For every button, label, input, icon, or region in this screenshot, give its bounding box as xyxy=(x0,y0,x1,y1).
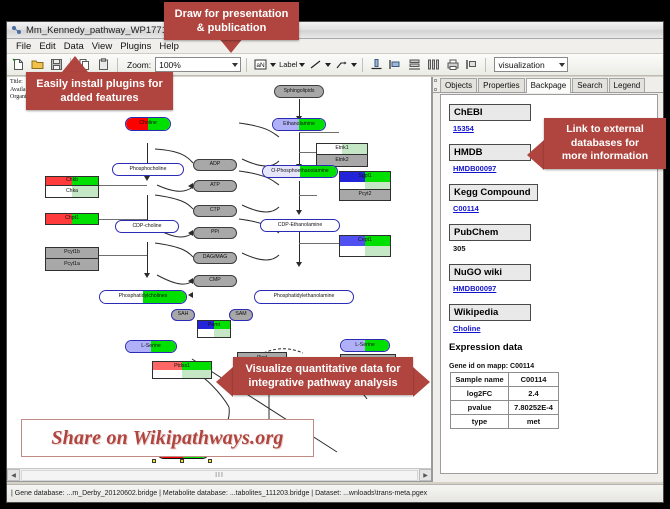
callout-line-2: databases for xyxy=(552,137,658,151)
chevron-down-icon[interactable] xyxy=(270,63,276,67)
node-label: Sgpl1 xyxy=(340,174,390,179)
chevron-down-icon[interactable] xyxy=(351,63,357,67)
node-o-phosphoethanolamine[interactable]: O-Phosphoethanolamine xyxy=(262,165,338,178)
backpage-header-hmdb: HMDB xyxy=(449,144,531,161)
table-row: type met xyxy=(451,415,559,429)
node-label: O-Phosphoethanolamine xyxy=(271,169,328,174)
paste-icon[interactable] xyxy=(95,56,112,73)
node-l-serine-right[interactable]: L-Serine xyxy=(340,339,390,352)
menu-help[interactable]: Help xyxy=(155,41,183,52)
svg-text:aN: aN xyxy=(256,62,265,69)
node-label: ADP xyxy=(210,162,221,167)
share-banner-text: Share on Wikipathways.org xyxy=(51,427,283,450)
node-ethanolamine-top[interactable]: Ethanolamine xyxy=(272,118,326,131)
toolbar-separator-5 xyxy=(485,58,486,72)
callout-line-3: more information xyxy=(552,150,658,164)
table-cell-value: 7.80252E-4 xyxy=(509,401,559,415)
menu-data[interactable]: Data xyxy=(60,41,88,52)
callout-visualize-pointer-left xyxy=(216,367,233,397)
node-label: L-Serine xyxy=(355,343,375,348)
node-label: CMP xyxy=(209,278,221,283)
node-label: Pemt xyxy=(198,323,230,328)
node-chka[interactable]: Chka xyxy=(45,186,99,198)
visualization-value: visualization xyxy=(498,60,544,70)
callout-plugins: Easily install plugins for added feature… xyxy=(26,72,173,110)
zoom-label: Zoom: xyxy=(127,60,151,70)
share-banner: Share on Wikipathways.org xyxy=(21,419,314,457)
arrowhead-icon xyxy=(188,278,193,284)
node-label: L-Serine xyxy=(141,344,161,349)
node-etnk1[interactable]: Etnk1 xyxy=(316,143,368,155)
scroll-track[interactable]: III xyxy=(21,470,418,481)
canvas-horizontal-scrollbar[interactable]: ◀ III ▶ xyxy=(7,468,432,481)
node-label: ATP xyxy=(210,183,220,188)
table-row: log2FC 2.4 xyxy=(451,387,559,401)
scroll-left-arrow-icon[interactable]: ◀ xyxy=(7,469,20,481)
toolbar-separator-4 xyxy=(362,58,363,72)
backpage-value-pubchem: 305 xyxy=(453,244,657,253)
node-pcyt2[interactable]: Pcyt2 xyxy=(339,189,391,201)
line-icon[interactable] xyxy=(307,56,324,73)
table-row: Sample name C00114 xyxy=(451,373,559,387)
expression-data-table: Sample name C00114 log2FC 2.4 pvalue 7.8… xyxy=(450,372,559,429)
backpage-header-wikipedia: Wikipedia xyxy=(449,304,531,321)
callout-line-2: integrative pathway analysis xyxy=(241,376,405,390)
scroll-right-arrow-icon[interactable]: ▶ xyxy=(419,469,432,481)
node-label: PPi xyxy=(211,230,219,235)
node-label: Choline xyxy=(139,121,157,126)
menu-edit[interactable]: Edit xyxy=(35,41,59,52)
node-label: CDP-choline xyxy=(132,224,161,229)
node-choline[interactable]: Choline xyxy=(125,117,171,131)
toolbar-separator-3 xyxy=(246,58,247,72)
line-tool[interactable] xyxy=(307,56,331,73)
node-label: Chkb xyxy=(66,178,78,183)
node-pemt[interactable]: Pemt xyxy=(197,320,231,338)
callout-line-1: Visualize quantitative data for xyxy=(241,362,405,376)
menu-file[interactable]: File xyxy=(12,41,35,52)
table-row: pvalue 7.80252E-4 xyxy=(451,401,559,415)
node-sam[interactable]: SAM xyxy=(229,309,253,321)
node-sah[interactable]: SAH xyxy=(171,309,195,321)
node-ptdss1[interactable]: Ptdss1 xyxy=(152,361,212,379)
node-label: Ethanolamine xyxy=(283,122,315,127)
label-button[interactable]: Label xyxy=(278,60,298,69)
open-folder-icon[interactable] xyxy=(29,56,46,73)
node-label: CTP xyxy=(210,208,220,213)
node-chpt1[interactable]: Chpt1 xyxy=(45,213,99,225)
stack-vertical-icon[interactable] xyxy=(406,56,423,73)
screenshot-root: Mm_Kennedy_pathway_WP1771_45176.gpml Fil… xyxy=(0,0,670,509)
backpage-link-kegg[interactable]: C00114 xyxy=(453,204,657,213)
callout-plugins-pointer xyxy=(62,56,88,72)
tab-search[interactable]: Search xyxy=(572,78,607,92)
node-atp[interactable]: ATP xyxy=(193,180,237,192)
align-bottom-icon[interactable] xyxy=(368,56,385,73)
callout-line-1: Easily install plugins for xyxy=(34,77,165,91)
zoom-combo[interactable]: 100% xyxy=(155,57,241,72)
datanode-tool[interactable]: aN xyxy=(252,56,276,73)
node-label: DAG/MAG xyxy=(203,255,228,260)
callout-link-db: Link to external databases for more info… xyxy=(544,118,666,169)
datanode-icon[interactable]: aN xyxy=(252,56,269,73)
status-bar: | Gene database: ...m_Derby_20120602.bri… xyxy=(7,484,663,502)
node-label: Chpt1 xyxy=(65,216,79,221)
node-label: Phosphocholine xyxy=(130,167,167,172)
callout-line-2: added features xyxy=(34,91,165,105)
node-label: Etnk1 xyxy=(335,146,348,151)
table-cell-value: 2.4 xyxy=(509,387,559,401)
table-cell-value: met xyxy=(509,415,559,429)
table-cell-key: pvalue xyxy=(451,401,509,415)
node-label: SAH xyxy=(178,312,189,317)
arrowhead-icon xyxy=(188,183,193,189)
table-cell-key: type xyxy=(451,415,509,429)
node-label: Ptdss1 xyxy=(153,364,211,369)
backpage-header-chebi: ChEBI xyxy=(449,104,531,121)
node-cdp-choline[interactable]: CDP-choline xyxy=(115,220,179,233)
tab-legend[interactable]: Legend xyxy=(609,78,646,92)
pathvisio-app-icon xyxy=(11,25,22,36)
table-cell-key: log2FC xyxy=(451,387,509,401)
node-cdp-ethanolamine[interactable]: CDP-Ethanolamine xyxy=(260,219,340,232)
backpage-link-wikipedia[interactable]: Choline xyxy=(453,324,657,333)
chevron-down-icon[interactable] xyxy=(299,63,305,67)
node-cmp[interactable]: CMP xyxy=(193,275,237,287)
zoom-value: 100% xyxy=(159,60,181,70)
table-cell-value: C00114 xyxy=(509,373,559,387)
tab-backpage[interactable]: Backpage xyxy=(526,78,572,93)
node-label: Phosphatidylethanolamine xyxy=(274,294,335,299)
new-file-icon[interactable] xyxy=(10,56,27,73)
callout-line-1: Link to external xyxy=(552,123,658,137)
tab-objects[interactable]: Objects xyxy=(440,78,477,92)
backpage-header-kegg: Kegg Compound xyxy=(449,184,538,201)
align-left-icon[interactable] xyxy=(387,56,404,73)
node-phosphocholine[interactable]: Phosphocholine xyxy=(112,163,184,176)
node-label: Phosphatidylcholines xyxy=(119,294,168,299)
pathway-diagram: Sphingolipids Sgpl1 Choline xyxy=(7,77,432,469)
callout-draw: Draw for presentation & publication xyxy=(164,2,299,40)
arrowhead-icon xyxy=(188,230,193,236)
arrowhead-icon xyxy=(188,292,193,298)
node-label: Pcyt1b xyxy=(64,250,80,255)
node-label: Pcyt2 xyxy=(359,192,372,197)
table-cell-key: Sample name xyxy=(451,373,509,387)
node-l-serine-left[interactable]: L-Serine xyxy=(125,340,177,353)
chevron-down-icon[interactable] xyxy=(559,63,565,67)
node-phosphatidylcholines[interactable]: Phosphatidylcholines xyxy=(99,290,187,304)
title-bar: Mm_Kennedy_pathway_WP1771_45176.gpml xyxy=(7,22,663,39)
node-chkb[interactable]: Chkb xyxy=(45,176,99,186)
node-pcyt1b[interactable]: Pcyt1b xyxy=(45,247,99,259)
callout-line-2: & publication xyxy=(172,21,291,35)
panel-grip[interactable] xyxy=(434,79,438,91)
callout-link-db-pointer xyxy=(527,140,544,170)
menu-view[interactable]: View xyxy=(88,41,116,52)
order-icon[interactable] xyxy=(463,56,480,73)
node-label: CDP-Ethanolamine xyxy=(278,223,322,228)
callout-line-1: Draw for presentation xyxy=(172,7,291,21)
gene-id-line: Gene id on mapp: C00114 xyxy=(449,363,657,370)
callout-visualize: Visualize quantitative data for integrat… xyxy=(233,357,413,395)
backpage-header-pubchem: PubChem xyxy=(449,224,531,241)
chevron-down-icon[interactable] xyxy=(325,63,331,67)
menu-bar: File Edit Data View Plugins Help xyxy=(7,39,663,54)
menu-plugins[interactable]: Plugins xyxy=(116,41,155,52)
node-ctp[interactable]: CTP xyxy=(193,205,237,217)
label-tool[interactable]: Label xyxy=(278,60,305,69)
scroll-thumb[interactable]: III xyxy=(215,472,224,479)
pathway-edges-svg xyxy=(7,77,432,469)
callout-visualize-pointer-right xyxy=(413,367,430,397)
tab-properties[interactable]: Properties xyxy=(478,78,524,92)
node-label: Cept1 xyxy=(340,238,390,243)
node-phosphatidylethanolamine[interactable]: Phosphatidylethanolamine xyxy=(254,290,354,304)
node-label: Chka xyxy=(66,189,78,194)
node-cept1[interactable]: Cept1 xyxy=(339,235,391,257)
status-bar-text: | Gene database: ...m_Derby_20120602.bri… xyxy=(11,490,427,497)
node-adp[interactable]: ADP xyxy=(193,159,237,171)
interaction-icon[interactable] xyxy=(333,56,350,73)
visualization-combo[interactable]: visualization xyxy=(494,57,568,72)
node-pcyt1a[interactable]: Pcyt1a xyxy=(45,259,99,271)
backpage-link-nugowiki[interactable]: HMDB00097 xyxy=(453,284,657,293)
print-icon[interactable] xyxy=(444,56,461,73)
interaction-tool[interactable] xyxy=(333,56,357,73)
panel-tab-strip: Objects Properties Backpage Search Legen… xyxy=(433,77,663,93)
node-label: SAM xyxy=(235,312,246,317)
distribute-icon[interactable] xyxy=(425,56,442,73)
expression-data-title: Expression data xyxy=(449,342,657,353)
node-label: Etnk2 xyxy=(335,158,348,163)
chevron-down-icon[interactable] xyxy=(232,63,238,67)
toolbar-separator-2 xyxy=(117,58,118,72)
node-label: Pcyt1a xyxy=(64,262,80,267)
node-sphingolipids[interactable]: Sphingolipids xyxy=(274,85,324,98)
node-dagmag[interactable]: DAG/MAG xyxy=(193,252,237,264)
node-ppi[interactable]: PPi xyxy=(193,227,237,239)
node-label: Sphingolipids xyxy=(284,89,315,94)
backpage-header-nugowiki: NuGO wiki xyxy=(449,264,531,281)
